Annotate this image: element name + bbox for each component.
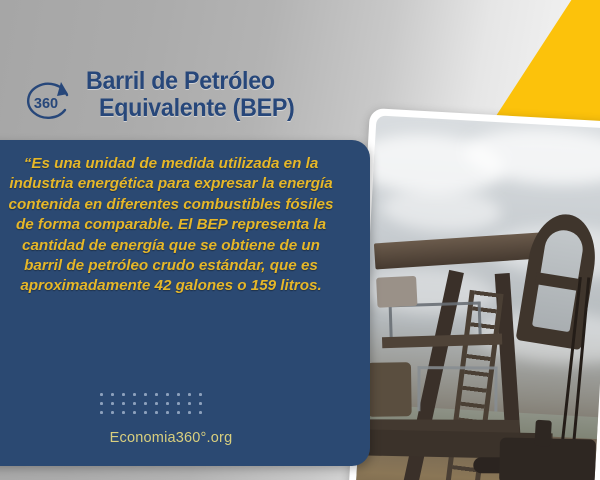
pumpjack-illustration <box>355 115 600 480</box>
grid-dot <box>166 393 169 396</box>
grid-dot <box>188 411 191 414</box>
infographic-canvas: “Es una unidad de medida utilizada en la… <box>0 0 600 480</box>
definition-quote: “Es una unidad de medida utilizada en la… <box>8 154 334 297</box>
grid-dot <box>111 402 114 405</box>
logo-degree-symbol: ° <box>62 89 66 100</box>
grid-dot <box>188 393 191 396</box>
grid-dot <box>100 402 103 405</box>
grid-dot <box>133 393 136 396</box>
grid-dot <box>199 402 202 405</box>
grid-dot <box>155 402 158 405</box>
grid-dot <box>188 402 191 405</box>
grid-dot <box>155 411 158 414</box>
grid-dot <box>155 393 158 396</box>
title-line-1: Barril de Petróleo <box>86 67 275 95</box>
grid-dot <box>111 393 114 396</box>
grid-dot <box>177 402 180 405</box>
dot-grid-decoration <box>100 393 210 420</box>
grid-dot <box>133 411 136 414</box>
grid-dot <box>122 393 125 396</box>
grid-dot <box>122 411 125 414</box>
counterweight <box>367 362 412 417</box>
grid-dot <box>100 411 103 414</box>
grid-dot <box>100 393 103 396</box>
pumpjack-photo-card <box>348 108 600 480</box>
grid-dot <box>144 393 147 396</box>
page-title: Barril de Petróleo Equivalente (BEP) <box>86 68 365 122</box>
grid-dot <box>144 402 147 405</box>
grid-dot <box>199 411 202 414</box>
pumpjack-photo <box>355 115 600 480</box>
grid-dot <box>177 393 180 396</box>
title-line-2: Equivalente (BEP) <box>86 95 365 122</box>
grid-dot <box>166 411 169 414</box>
circular-arrow-360-icon: 360 ° <box>20 76 80 128</box>
grid-dot <box>166 402 169 405</box>
grid-dot <box>144 411 147 414</box>
grid-dot <box>133 402 136 405</box>
motor-box <box>376 276 417 308</box>
grid-dot <box>111 411 114 414</box>
logo-360: 360 ° <box>20 76 80 128</box>
valve <box>534 420 551 447</box>
website-label: Economia360°.org <box>8 430 334 446</box>
grid-dot <box>177 411 180 414</box>
handrail-lower <box>417 366 497 411</box>
grid-dot <box>199 393 202 396</box>
grid-dot <box>122 402 125 405</box>
logo-360-text: 360 <box>34 96 58 112</box>
quote-panel: “Es una unidad de medida utilizada en la… <box>0 140 370 466</box>
